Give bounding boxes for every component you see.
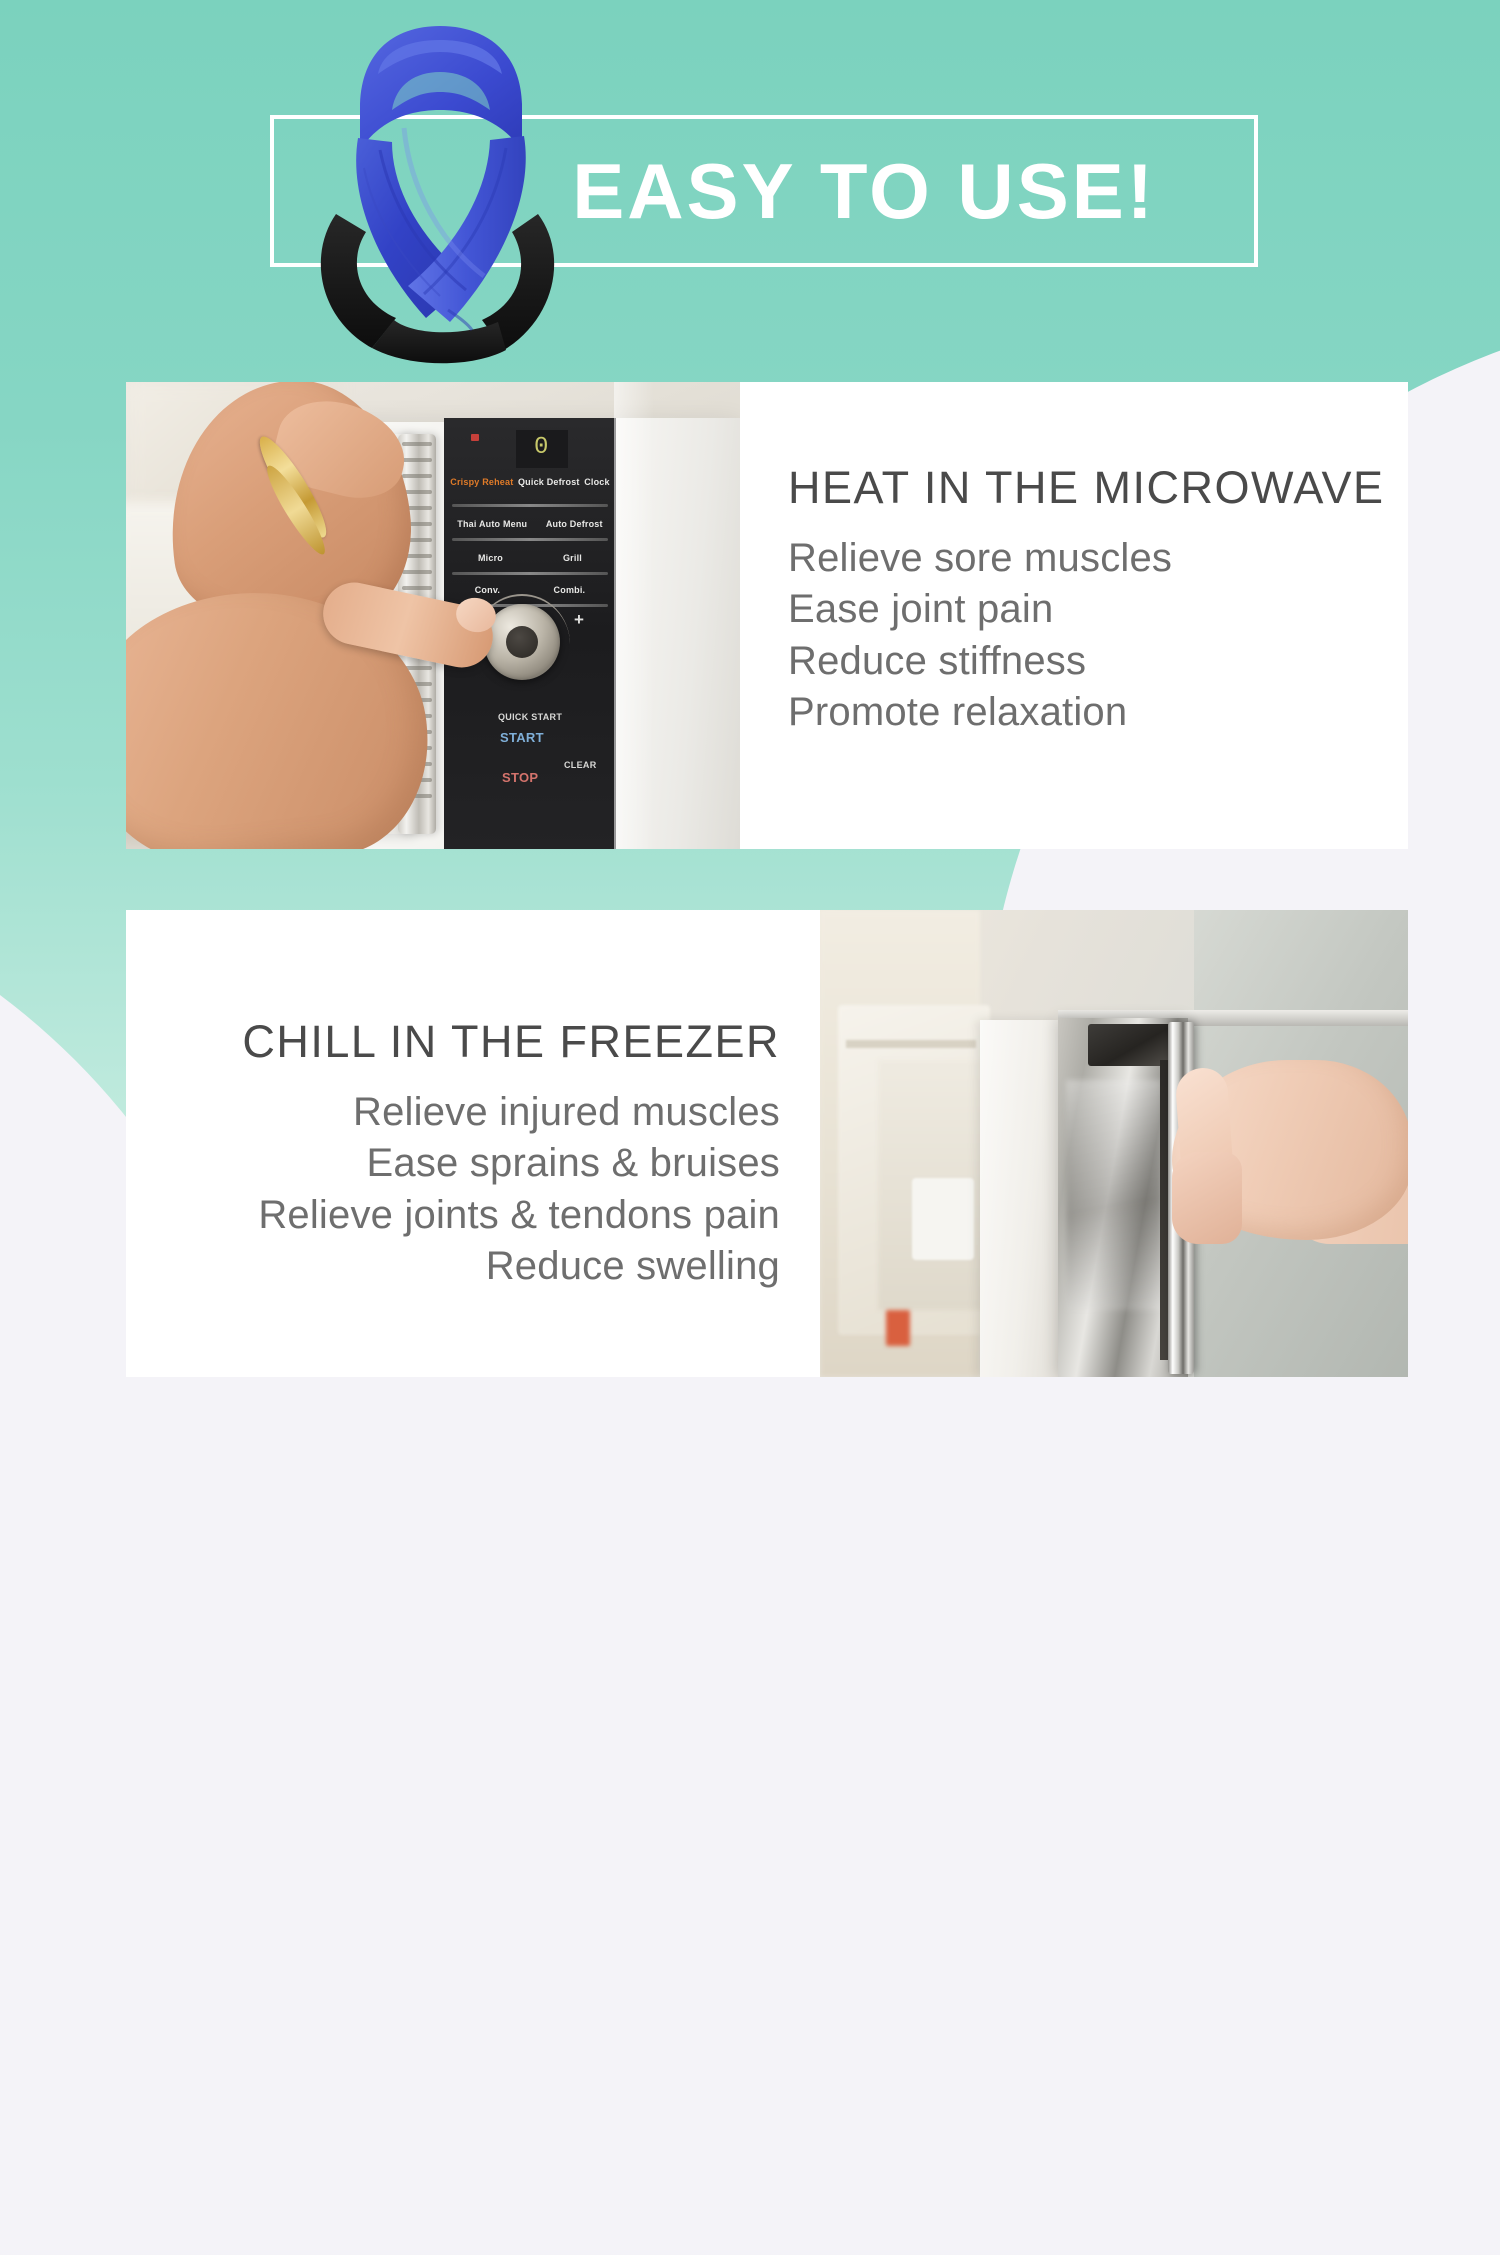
benefit-item: Reduce stiffness (788, 636, 1408, 687)
interior-red-item (886, 1310, 910, 1346)
button-clock[interactable]: Clock (584, 478, 610, 488)
neck-wrap-illustration (300, 18, 580, 378)
microwave-display: 0 (516, 430, 568, 468)
section-card-heat: 0 Crispy Reheat Quick Defrost Clock Thai… (126, 382, 1408, 849)
benefit-item: Relieve joints & tendons pain (126, 1190, 780, 1241)
benefit-item: Ease sprains & bruises (126, 1138, 780, 1189)
button-crispy-reheat[interactable]: Crispy Reheat (450, 478, 513, 488)
freezer-handle-shadow-gap (1160, 1060, 1168, 1360)
microwave-led-indicator (471, 434, 479, 441)
label-quick-start: QUICK START (498, 712, 562, 722)
button-conv[interactable]: Conv. (475, 586, 500, 596)
strap-bottom (372, 320, 506, 363)
microwave-button-row-3: Micro Grill (448, 554, 612, 564)
button-auto-defrost[interactable]: Auto Defrost (546, 520, 603, 530)
photo-microwave: 0 Crispy Reheat Quick Defrost Clock Thai… (126, 382, 740, 849)
section-title-chill: CHILL IN THE FREEZER (126, 1018, 780, 1065)
button-quick-defrost[interactable]: Quick Defrost (518, 478, 580, 488)
section-card-chill: CHILL IN THE FREEZER Relieve injured mus… (126, 910, 1408, 1377)
microwave-sheen (614, 382, 654, 849)
panel-divider-2 (452, 538, 608, 541)
benefit-item: Reduce swelling (126, 1241, 780, 1292)
button-micro[interactable]: Micro (478, 554, 503, 564)
product-image-neck-wrap (300, 18, 580, 378)
benefit-item: Ease joint pain (788, 584, 1408, 635)
microwave-button-row-1: Crispy Reheat Quick Defrost Clock (448, 478, 612, 488)
freezer-door-inner-white (980, 1020, 1058, 1377)
header-banner: EASY TO USE! (0, 0, 1500, 382)
section-text-heat: HEAT IN THE MICROWAVE Relieve sore muscl… (740, 382, 1408, 849)
label-clear: CLEAR (564, 760, 597, 770)
microwave-display-value: 0 (534, 434, 546, 461)
panel-divider-1 (452, 504, 608, 507)
benefit-item: Relieve sore muscles (788, 533, 1408, 584)
button-stop[interactable]: STOP (502, 770, 538, 785)
section-title-heat: HEAT IN THE MICROWAVE (788, 464, 1408, 511)
benefit-item: Promote relaxation (788, 687, 1408, 738)
cabinet-shelf (846, 1040, 976, 1048)
button-start[interactable]: START (500, 730, 544, 745)
freezer-door-reflection (1066, 1080, 1162, 1310)
benefit-list-heat: Relieve sore muscles Ease joint pain Red… (788, 533, 1408, 738)
button-combi[interactable]: Combi. (554, 586, 586, 596)
button-grill[interactable]: Grill (563, 554, 582, 564)
section-text-chill: CHILL IN THE FREEZER Relieve injured mus… (126, 910, 820, 1377)
interior-container (912, 1178, 974, 1260)
fingers-wrapped (1172, 1152, 1242, 1244)
benefit-item: Relieve injured muscles (126, 1087, 780, 1138)
knob-plus-label[interactable]: + (574, 610, 584, 630)
microwave-button-row-2: Thai Auto Menu Auto Defrost (448, 520, 612, 530)
button-thai-auto-menu[interactable]: Thai Auto Menu (457, 520, 527, 530)
panel-divider-3 (452, 572, 608, 575)
photo-freezer (820, 910, 1408, 1377)
benefit-list-chill: Relieve injured muscles Ease sprains & b… (126, 1087, 780, 1292)
